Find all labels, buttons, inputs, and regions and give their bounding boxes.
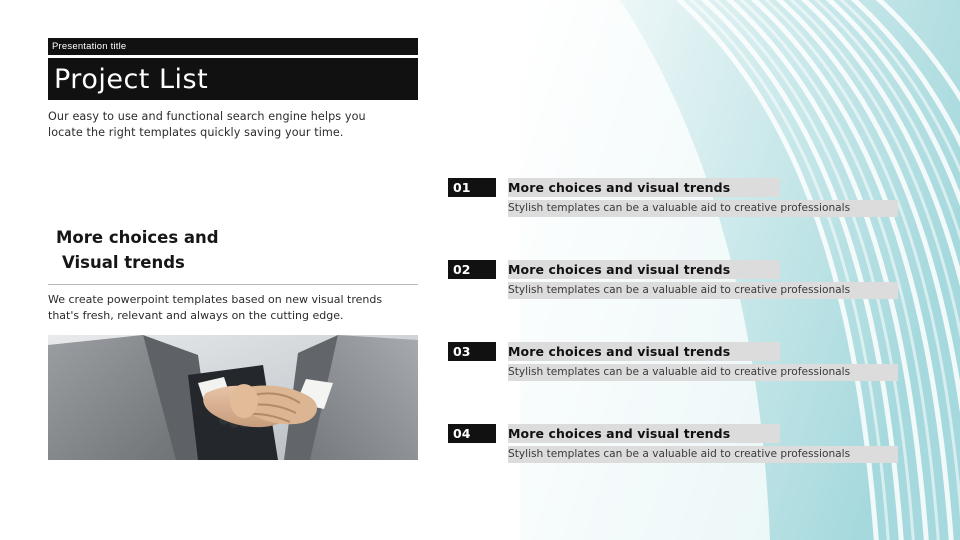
list-item-number: 02 — [448, 260, 496, 279]
list-item-body: More choices and visual trends Stylish t… — [508, 342, 908, 381]
project-list: 01 More choices and visual trends Stylis… — [448, 178, 908, 506]
list-item-subtitle: Stylish templates can be a valuable aid … — [508, 364, 908, 381]
list-item[interactable]: 02 More choices and visual trends Stylis… — [448, 260, 908, 324]
list-item-title: More choices and visual trends — [508, 342, 908, 361]
list-item-subtitle: Stylish templates can be a valuable aid … — [508, 282, 908, 299]
divider-line — [48, 284, 418, 285]
list-item-title: More choices and visual trends — [508, 178, 908, 197]
list-item-number: 04 — [448, 424, 496, 443]
intro-paragraph: Our easy to use and functional search en… — [48, 109, 400, 141]
list-item-body: More choices and visual trends Stylish t… — [508, 178, 908, 217]
list-item-title: More choices and visual trends — [508, 260, 908, 279]
subheading-paragraph: We create powerpoint templates based on … — [48, 292, 398, 323]
presentation-title-bar: Presentation title — [48, 38, 418, 55]
presentation-title: Presentation title — [52, 41, 126, 52]
handshake-photo — [48, 335, 418, 460]
page-title: Project List — [54, 64, 208, 95]
list-item-title: More choices and visual trends — [508, 424, 908, 443]
subheading-line-2: Visual trends — [56, 250, 420, 275]
list-item[interactable]: 03 More choices and visual trends Stylis… — [448, 342, 908, 406]
list-item-number: 03 — [448, 342, 496, 361]
list-item[interactable]: 04 More choices and visual trends Stylis… — [448, 424, 908, 488]
list-item-body: More choices and visual trends Stylish t… — [508, 424, 908, 463]
list-item[interactable]: 01 More choices and visual trends Stylis… — [448, 178, 908, 242]
subheading-block: More choices and Visual trends — [48, 225, 420, 275]
list-item-subtitle: Stylish templates can be a valuable aid … — [508, 200, 908, 217]
subheading-line-1: More choices and — [56, 225, 420, 250]
list-item-subtitle: Stylish templates can be a valuable aid … — [508, 446, 908, 463]
list-item-body: More choices and visual trends Stylish t… — [508, 260, 908, 299]
left-content-column: Presentation title Project List Our easy… — [48, 38, 420, 460]
list-item-number: 01 — [448, 178, 496, 197]
main-title-bar: Project List — [48, 58, 418, 100]
